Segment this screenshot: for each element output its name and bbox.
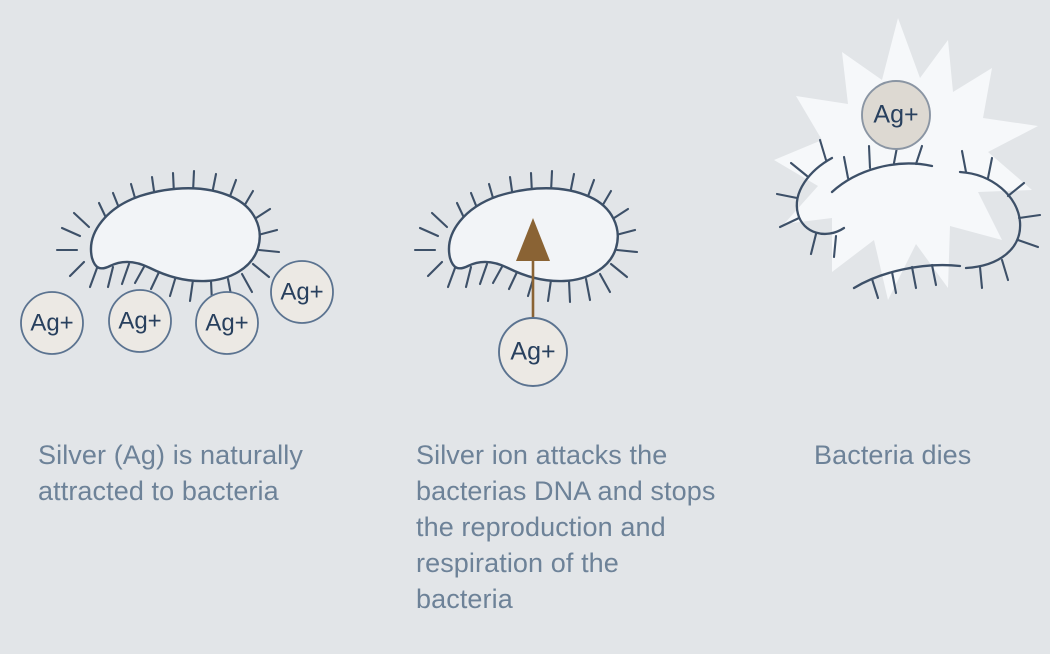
panel-1-illustration: Ag+ Ag+ Ag+ Ag+	[0, 0, 380, 430]
caption-step-2: Silver ion attacks the bacterias DNA and…	[416, 437, 761, 617]
panel-3-illustration: Ag+	[770, 0, 1050, 430]
caption-step-1: Silver (Ag) is naturally attracted to ba…	[38, 437, 358, 509]
ion-ag-plus: Ag+	[499, 318, 567, 386]
panel-2-illustration: Ag+	[380, 0, 770, 430]
ion-label: Ag+	[280, 278, 323, 305]
burst-shape	[774, 18, 1038, 300]
ion-ag-plus: Ag+	[21, 292, 83, 354]
ion-label: Ag+	[118, 307, 161, 334]
ion-label: Ag+	[30, 309, 73, 336]
ion-ag-plus: Ag+	[271, 261, 333, 323]
ion-label: Ag+	[510, 338, 555, 366]
ion-label: Ag+	[873, 101, 918, 129]
panel-step-3: Ag+	[770, 0, 1050, 654]
panel-step-1: Ag+ Ag+ Ag+ Ag+	[0, 0, 380, 654]
ion-ag-plus: Ag+	[196, 292, 258, 354]
figure-canvas: Ag+ Ag+ Ag+ Ag+	[0, 0, 1050, 654]
caption-step-3: Bacteria dies	[814, 437, 1044, 473]
ion-ag-plus: Ag+	[862, 81, 930, 149]
ion-label: Ag+	[205, 309, 248, 336]
ion-ag-plus: Ag+	[109, 290, 171, 352]
